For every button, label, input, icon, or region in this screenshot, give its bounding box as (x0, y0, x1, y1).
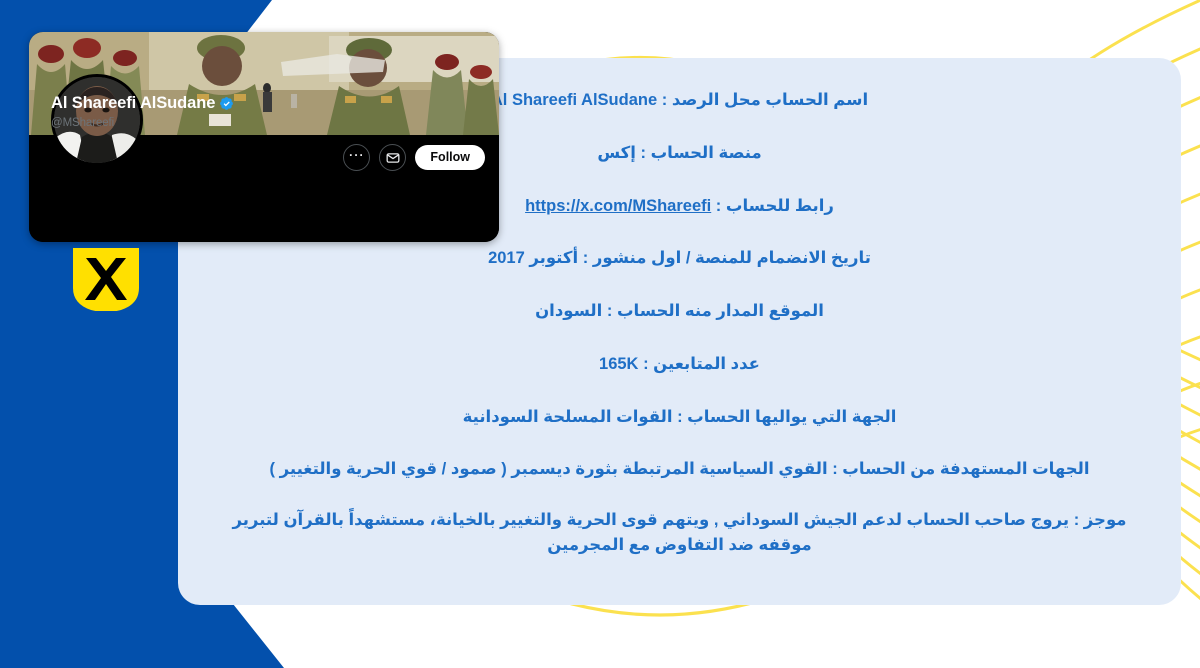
info-value: السودان (535, 302, 602, 320)
info-row-allegiance: الجهة التي يواليها الحساب : القوات المسل… (216, 405, 1143, 430)
info-separator: : (578, 249, 593, 267)
info-separator: : (657, 91, 672, 109)
info-value: أكتوبر 2017 (488, 249, 578, 267)
info-separator: : (602, 302, 617, 320)
info-separator: : (638, 355, 653, 373)
info-separator: : (1069, 511, 1084, 529)
info-label: الجهة التي يواليها الحساب (687, 408, 896, 426)
infographic-canvas: اسم الحساب محل الرصد : Al Shareefi AlSud… (0, 0, 1200, 668)
info-value: القوات المسلحة السودانية (463, 408, 673, 426)
info-label: منصة الحساب (651, 144, 762, 162)
x-logo-badge (73, 248, 139, 311)
info-label: اسم الحساب محل الرصد (672, 91, 868, 109)
info-label: تاريخ الانضمام للمنصة / اول منشور (593, 249, 871, 267)
more-dots-icon: ··· (349, 149, 365, 166)
info-row-location: الموقع المدار منه الحساب : السودان (216, 299, 1143, 324)
info-value: إكس (597, 144, 636, 162)
info-label: الجهات المستهدفة من الحساب (842, 460, 1089, 478)
info-label: موجز (1084, 511, 1127, 529)
follow-button[interactable]: Follow (415, 145, 485, 170)
info-separator: : (672, 408, 687, 426)
info-separator: : (828, 460, 843, 478)
message-button[interactable] (379, 144, 406, 171)
info-row-targets: الجهات المستهدفة من الحساب : القوي السيا… (216, 457, 1143, 482)
info-value: القوي السياسية المرتبطة بثورة ديسمبر ( ص… (269, 460, 827, 478)
info-label: عدد المتابعين (653, 355, 760, 373)
info-row-join-date: تاريخ الانضمام للمنصة / اول منشور : أكتو… (216, 246, 1143, 271)
info-value: يروج صاحب الحساب لدعم الجيش السوداني , و… (232, 511, 1069, 554)
info-separator: : (636, 144, 651, 162)
info-row-summary: موجز : يروج صاحب الحساب لدعم الجيش السود… (216, 508, 1143, 558)
more-options-button[interactable]: ··· (343, 144, 370, 171)
verified-badge-icon (219, 96, 234, 111)
envelope-icon (386, 151, 400, 165)
info-label: الموقع المدار منه الحساب (617, 302, 824, 320)
info-row-followers: عدد المتابعين : 165K (216, 352, 1143, 377)
display-name: Al Shareefi AlSudane (51, 94, 215, 113)
info-label: رابط للحساب (726, 197, 834, 215)
followers-count: 165K (599, 352, 638, 377)
profile-handle: @MShareefi (51, 117, 114, 129)
info-separator: : (711, 197, 726, 215)
profile-card: ··· Follow Al Shareefi AlSudane @MSharee… (29, 32, 499, 242)
profile-actions: ··· Follow (343, 144, 485, 171)
account-link[interactable]: https://x.com/MShareefi (525, 194, 711, 219)
display-name-row: Al Shareefi AlSudane (51, 94, 234, 113)
info-value: Al Shareefi AlSudane (491, 88, 657, 113)
